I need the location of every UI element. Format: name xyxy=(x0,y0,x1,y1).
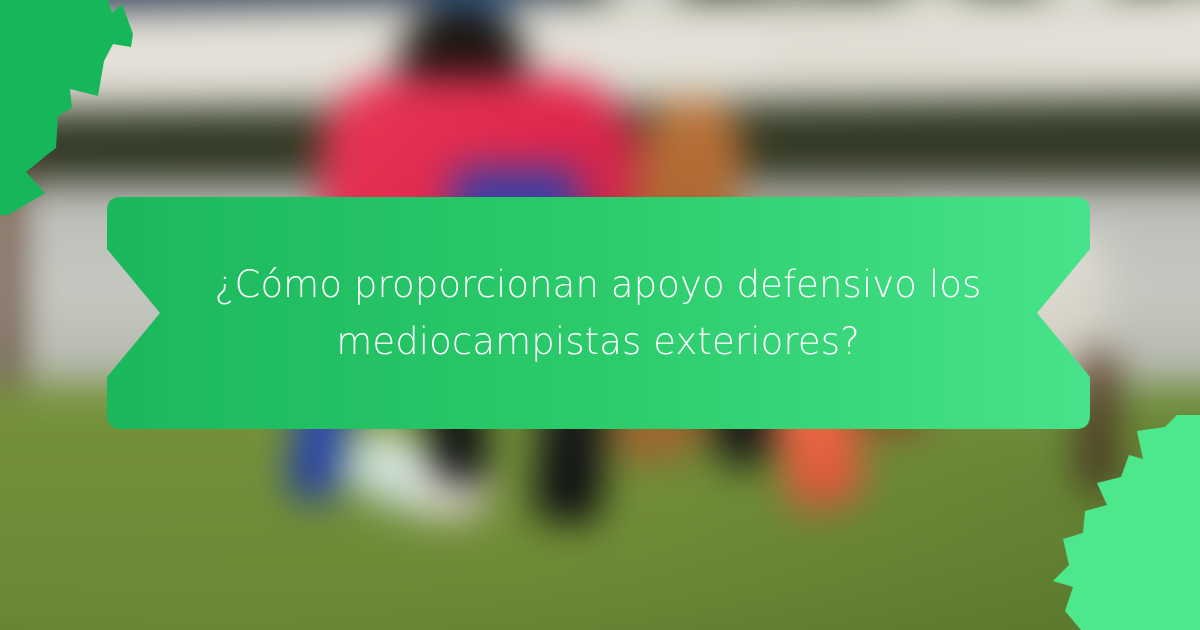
headline-line-1: ¿Cómo proporcionan apoyo defensivo los xyxy=(215,256,982,313)
social-share-card: ¿Cómo proporcionan apoyo defensivo los m… xyxy=(0,0,1200,630)
headline-line-2: mediocampistas exteriores? xyxy=(336,313,860,370)
headline-text-block: ¿Cómo proporcionan apoyo defensivo los m… xyxy=(168,197,1028,429)
